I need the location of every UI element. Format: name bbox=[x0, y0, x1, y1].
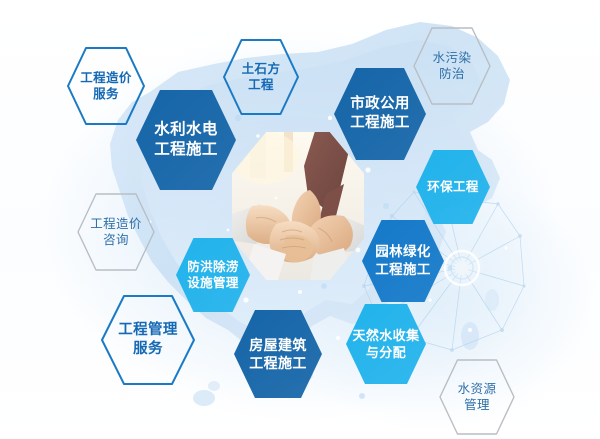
hexagon-natural-water-collection-distribution[interactable]: 天然水收集 与分配 bbox=[344, 302, 428, 386]
hexagon-landscaping-engineering-construction[interactable]: 园林绿化 工程施工 bbox=[360, 218, 446, 304]
hexagon-label: 园林绿化 工程施工 bbox=[375, 243, 431, 279]
hexagon-label: 土石方 工程 bbox=[242, 61, 281, 94]
hexagon-water-resource-management[interactable]: 水资源 管理 bbox=[438, 358, 516, 436]
hexagon-engineering-management-service[interactable]: 工程管理 服务 bbox=[100, 294, 196, 386]
hexagon-label: 防洪除涝 设施管理 bbox=[187, 259, 239, 292]
hexagon-water-conservancy-hydropower-construction[interactable]: 水利水电 工程施工 bbox=[134, 88, 238, 192]
hexagon-label: 房屋建筑 工程施工 bbox=[249, 336, 307, 373]
hexagon-label: 工程造价 咨询 bbox=[90, 216, 142, 249]
hexagon-label: 天然水收集 与分配 bbox=[352, 327, 419, 361]
hexagon-label: 工程造价 服务 bbox=[80, 70, 132, 103]
hexagon-label: 环保工程 bbox=[427, 179, 479, 196]
hexagon-label: 水污染 防治 bbox=[433, 50, 472, 83]
hexagon-environmental-protection-engineering[interactable]: 环保工程 bbox=[414, 148, 492, 226]
hexagon-label: 市政公用 工程施工 bbox=[350, 95, 410, 133]
hexagon-building-construction-works[interactable]: 房屋建筑 工程施工 bbox=[232, 308, 324, 400]
hexagon-label: 水利水电 工程施工 bbox=[154, 120, 218, 161]
hexagon-label: 水资源 管理 bbox=[458, 381, 497, 414]
hexagon-label: 工程管理 服务 bbox=[118, 321, 178, 359]
hexagon-engineering-cost-consulting[interactable]: 工程造价 咨询 bbox=[76, 192, 156, 272]
infographic-canvas: 工程造价 服务土石方 工程水污染 防治水利水电 工程施工市政公用 工程施工环保工… bbox=[0, 0, 600, 439]
